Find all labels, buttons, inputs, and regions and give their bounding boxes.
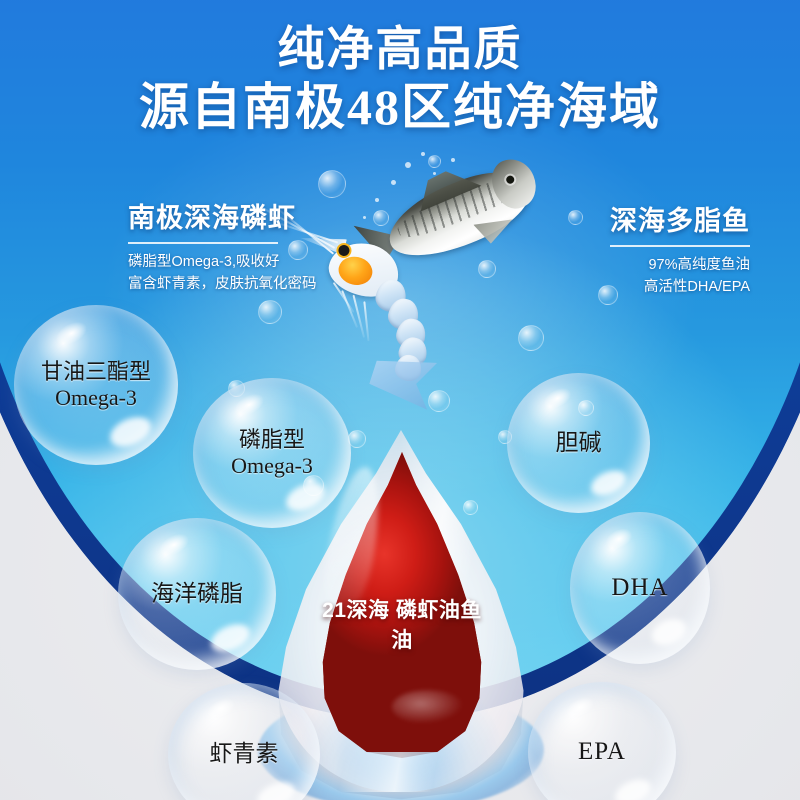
water-splash [433,172,436,175]
bubble-dha[interactable]: DHA [570,512,710,664]
bubble-choline[interactable]: 胆碱 [507,373,650,513]
bubble-dha-label: DHA [611,573,668,603]
callout-krill-title: 南极深海磷虾 [128,196,317,235]
bubble-sparkle-icon [230,390,266,421]
bubble-sparkle-icon [602,525,635,554]
callout-krill: 南极深海磷虾 磷脂型Omega-3,吸收好 富含虾青素，皮肤抗氧化密码 [128,196,317,296]
bubble-choline-label: 胆碱 [556,429,602,457]
water-splash [375,198,379,202]
water-splash [421,152,425,156]
callout-fish-sub-1: 97%高纯度鱼油 [610,254,750,276]
callout-krill-divider [128,242,278,244]
red-droplet-bottom-highlight [392,690,464,724]
bubble-triglyceride-omega3-label: 甘油三酯型 Omega-3 [41,359,151,412]
droplet-label-line-2: 磷虾油鱼油 [391,599,482,652]
bubble-triglyceride-omega3[interactable]: 甘油三酯型 Omega-3 [14,305,178,465]
product-banner: 纯净高品质 源自南极48区纯净海域 南极深海磷虾 磷脂型Omega-3,吸收好 … [0,0,800,800]
headline-line-2: 源自南极48区纯净海域 [0,79,800,135]
callout-fish: 深海多脂鱼 97%高纯度鱼油 高活性DHA/EPA [610,199,750,299]
bubble-sparkle-icon [52,318,90,350]
bubble-marine-phospholipid-label: 海洋磷脂 [151,580,243,608]
headline-line-1: 纯净高品质 [0,24,800,77]
droplet-label-line-1: 21深海 [322,599,389,622]
bubble-sparkle-icon [563,693,597,722]
callout-fish-sub-2: 高活性DHA/EPA [610,276,750,298]
water-splash [391,180,396,185]
callout-krill-sub-2: 富含虾青素，皮肤抗氧化密码 [128,273,317,295]
callout-fish-divider [610,245,750,247]
water-bubble [348,430,366,448]
bubble-astaxanthin-label: 虾青素 [210,740,279,768]
callout-fish-title: 深海多脂鱼 [610,199,750,238]
bubble-sparkle-icon [540,384,573,412]
water-splash [451,158,455,162]
bubble-sparkle-icon [204,694,239,723]
droplet-label: 21深海 磷虾油鱼油 [314,596,490,656]
water-bubble [463,500,478,515]
bubble-marine-phospholipid[interactable]: 海洋磷脂 [118,518,276,670]
water-splash [405,162,411,168]
bubble-sparkle-icon [155,530,191,561]
bubble-phospholipid-omega3-label: 磷脂型 Omega-3 [231,427,313,480]
page-title: 纯净高品质 源自南极48区纯净海域 [0,24,800,135]
water-splash [363,216,366,219]
bubble-epa-label: EPA [578,737,626,767]
bubble-phospholipid-omega3[interactable]: 磷脂型 Omega-3 [193,378,351,528]
callout-krill-sub-1: 磷脂型Omega-3,吸收好 [128,251,317,273]
